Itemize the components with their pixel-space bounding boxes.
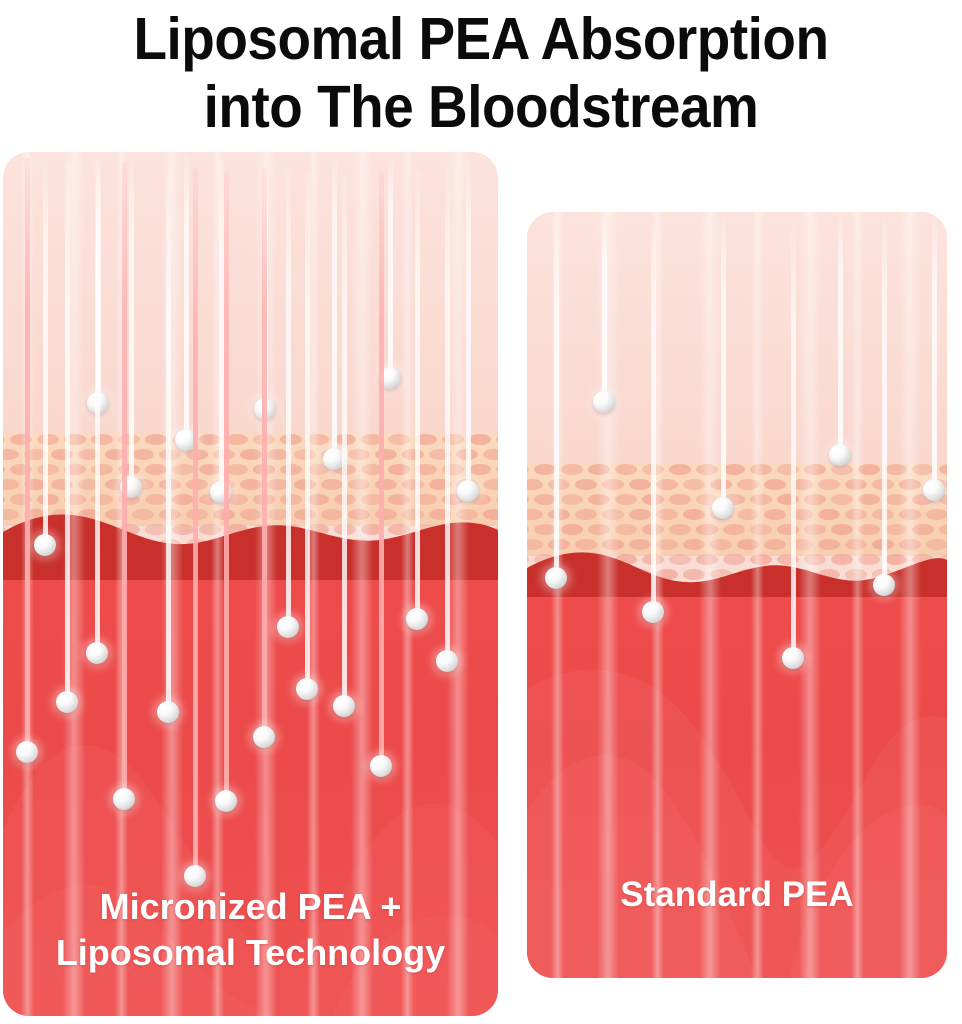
- epidermis-cell: [213, 479, 235, 490]
- epidermis-cell: [253, 464, 275, 475]
- epidermis-cell: [777, 494, 799, 505]
- epidermis-cell: [548, 479, 570, 490]
- epidermis-cell: [132, 479, 154, 490]
- epidermis-cell: [615, 494, 637, 505]
- epidermis-cell: [132, 449, 154, 460]
- epidermis-cell: [469, 434, 491, 445]
- bloodstream-layer: [527, 597, 947, 978]
- epidermis-cell: [3, 479, 19, 490]
- epidermis-cell: [737, 509, 759, 520]
- epidermis-cell: [926, 509, 948, 520]
- epidermis-cell: [818, 479, 840, 490]
- epidermis-cell: [159, 479, 181, 490]
- epidermis-cell: [78, 479, 100, 490]
- epidermis-cell: [91, 434, 113, 445]
- epidermis-cell: [10, 464, 32, 475]
- caption-left-line-2: Liposomal Technology: [3, 930, 498, 976]
- epidermis-cell: [804, 464, 826, 475]
- epidermis-cell: [527, 479, 543, 490]
- epidermis-cell: [527, 464, 529, 475]
- epidermis-cell: [496, 464, 498, 475]
- epidermis-cell: [3, 449, 19, 460]
- epidermis-cell: [24, 449, 46, 460]
- epidermis-cell: [629, 509, 651, 520]
- epidermis-cell: [845, 509, 867, 520]
- epidermis-cell: [939, 464, 947, 475]
- epidermis-cell: [307, 464, 329, 475]
- epidermis-cell: [3, 434, 5, 445]
- standard-pea-panel[interactable]: Standard PEA: [527, 212, 947, 978]
- blood-flow-shapes: [527, 597, 947, 978]
- caption-left-line-1: Micronized PEA +: [3, 884, 498, 930]
- epidermis-cell: [456, 479, 478, 490]
- epidermis-cell: [939, 494, 947, 505]
- epidermis-cell: [831, 464, 853, 475]
- epidermis-cell: [388, 434, 410, 445]
- epidermis-cell: [159, 449, 181, 460]
- epidermis-cell: [321, 449, 343, 460]
- epidermis-cell: [415, 464, 437, 475]
- epidermis-cell: [361, 464, 383, 475]
- epidermis-cell: [253, 434, 275, 445]
- title-line-1: Liposomal PEA Absorption: [34, 0, 929, 73]
- epidermis-cell: [375, 449, 397, 460]
- epidermis-cell: [710, 479, 732, 490]
- epidermis-cell: [267, 449, 289, 460]
- epidermis-cell: [602, 509, 624, 520]
- epidermis-cell: [145, 434, 167, 445]
- epidermis-cell: [429, 479, 451, 490]
- epidermis-cell: [683, 509, 705, 520]
- epidermis-cell: [280, 434, 302, 445]
- skin-surface-layer: [3, 152, 498, 434]
- epidermis-cell: [602, 479, 624, 490]
- epidermis-cell: [575, 509, 597, 520]
- panel-caption-right: Standard PEA: [527, 872, 947, 918]
- epidermis-cell: [10, 434, 32, 445]
- epidermis-cell: [334, 434, 356, 445]
- epidermis-cell: [321, 479, 343, 490]
- epidermis-cell: [669, 464, 691, 475]
- epidermis-cell: [348, 479, 370, 490]
- epidermis-cell: [51, 449, 73, 460]
- epidermis-cell: [629, 479, 651, 490]
- epidermis-cell: [78, 449, 100, 460]
- epidermis-cell: [696, 464, 718, 475]
- epidermis-cell: [885, 464, 907, 475]
- epidermis-cell: [527, 509, 543, 520]
- epidermis-cell: [375, 479, 397, 490]
- epidermis-cell: [199, 464, 221, 475]
- epidermis-cell: [872, 509, 894, 520]
- epidermis-cell: [429, 449, 451, 460]
- epidermis-cell: [105, 479, 127, 490]
- epidermis-cell: [240, 479, 262, 490]
- panel-caption-left: Micronized PEA + Liposomal Technology: [3, 884, 498, 976]
- epidermis-cell: [307, 434, 329, 445]
- epidermis-cell: [402, 479, 424, 490]
- epidermis-cell: [858, 464, 880, 475]
- epidermis-cell: [334, 464, 356, 475]
- epidermis-cell: [402, 449, 424, 460]
- epidermis-cell: [226, 464, 248, 475]
- epidermis-cell: [186, 449, 208, 460]
- epidermis-cell: [764, 479, 786, 490]
- caption-right-line-1: Standard PEA: [527, 872, 947, 918]
- epidermis-cell: [118, 464, 140, 475]
- epidermis-cell: [615, 464, 637, 475]
- title-line-2: into The Bloodstream: [34, 73, 929, 141]
- epidermis-cell: [750, 464, 772, 475]
- epidermis-cell: [3, 464, 5, 475]
- epidermis-cell: [534, 494, 556, 505]
- epidermis-cell: [186, 479, 208, 490]
- epidermis-cell: [213, 449, 235, 460]
- epidermis-cell: [64, 434, 86, 445]
- epidermis-cell: [588, 494, 610, 505]
- epidermis-cell: [575, 479, 597, 490]
- epidermis-cell: [642, 464, 664, 475]
- epidermis-cell: [899, 509, 921, 520]
- epidermis-cell: [669, 494, 691, 505]
- epidermis-cell: [483, 449, 499, 460]
- epidermis-cell: [442, 464, 464, 475]
- epidermis-cell: [845, 479, 867, 490]
- epidermis-cell: [561, 464, 583, 475]
- epidermis-cell: [723, 464, 745, 475]
- dermis-dark-band: [527, 528, 947, 604]
- epidermis-cell: [280, 464, 302, 475]
- epidermis-cell: [683, 479, 705, 490]
- page-title: Liposomal PEA Absorption into The Bloods…: [0, 0, 962, 146]
- epidermis-cell: [145, 464, 167, 475]
- epidermis-cell: [723, 494, 745, 505]
- skin-surface-layer: [527, 212, 947, 464]
- epidermis-cell: [548, 509, 570, 520]
- epidermis-cell: [926, 479, 948, 490]
- epidermis-cell: [456, 449, 478, 460]
- epidermis-cell: [710, 509, 732, 520]
- infographic-canvas: Liposomal PEA Absorption into The Bloods…: [0, 0, 962, 1024]
- epidermis-cell: [37, 434, 59, 445]
- epidermis-cell: [240, 449, 262, 460]
- epidermis-cell: [64, 464, 86, 475]
- epidermis-cell: [118, 434, 140, 445]
- epidermis-cell: [226, 434, 248, 445]
- epidermis-cell: [442, 434, 464, 445]
- epidermis-cell: [105, 449, 127, 460]
- epidermis-cell: [858, 494, 880, 505]
- epidermis-cell: [872, 479, 894, 490]
- epidermis-cell: [267, 479, 289, 490]
- epidermis-cell: [777, 464, 799, 475]
- epidermis-cell: [885, 494, 907, 505]
- epidermis-cell: [656, 509, 678, 520]
- epidermis-cell: [91, 464, 113, 475]
- epidermis-cell: [912, 494, 934, 505]
- epidermis-cell: [361, 434, 383, 445]
- epidermis-cell: [656, 479, 678, 490]
- epidermis-cell: [912, 464, 934, 475]
- epidermis-cell: [804, 494, 826, 505]
- epidermis-cell: [561, 494, 583, 505]
- epidermis-cell: [172, 464, 194, 475]
- epidermis-cell: [24, 479, 46, 490]
- dermis-dark-band: [3, 504, 498, 584]
- epidermis-cell: [415, 434, 437, 445]
- epidermis-cell: [294, 449, 316, 460]
- epidermis-cell: [831, 494, 853, 505]
- epidermis-cell: [791, 509, 813, 520]
- epidermis-cell: [51, 479, 73, 490]
- epidermis-cell: [348, 449, 370, 460]
- epidermis-cell: [496, 434, 498, 445]
- epidermis-cell: [899, 479, 921, 490]
- epidermis-cell: [469, 464, 491, 475]
- epidermis-cell: [527, 494, 529, 505]
- epidermis-cell: [388, 464, 410, 475]
- epidermis-cell: [483, 479, 499, 490]
- epidermis-cell: [791, 479, 813, 490]
- epidermis-cell: [750, 494, 772, 505]
- epidermis-cell: [642, 494, 664, 505]
- epidermis-cell: [818, 509, 840, 520]
- epidermis-cell: [37, 464, 59, 475]
- epidermis-cell: [696, 494, 718, 505]
- epidermis-cell: [294, 479, 316, 490]
- epidermis-cell: [172, 434, 194, 445]
- micronized-liposomal-panel[interactable]: Micronized PEA + Liposomal Technology: [3, 152, 498, 1016]
- epidermis-cell: [588, 464, 610, 475]
- epidermis-cell: [534, 464, 556, 475]
- epidermis-cell: [764, 509, 786, 520]
- epidermis-cell: [199, 434, 221, 445]
- epidermis-cell: [737, 479, 759, 490]
